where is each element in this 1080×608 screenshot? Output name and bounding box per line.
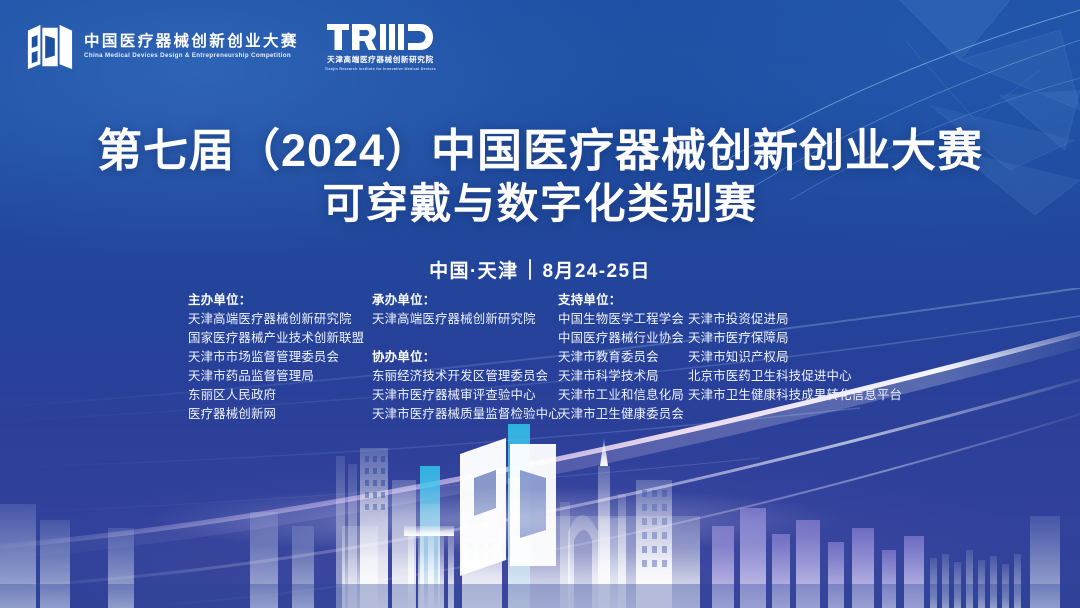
logo-cmdc-text: 中国医疗器械创新创业大赛 China Medical Devices Desig… [84,34,299,59]
organizer-item: 天津市科学技术局 [558,367,688,386]
organizer-item: 东丽区人民政府 [188,386,372,405]
organizer-item: 国家医疗器械产业技术创新联盟 [188,329,372,348]
page-title-line-2: 可穿戴与数字化类别赛 [0,177,1080,232]
organizer-group-title: 主办单位： [188,291,372,310]
organizer-item: 天津市药品监督管理局 [188,367,372,386]
organizer-column-3: 支持单位：中国生物医学工程学会中国医疗器械行业协会天津市教育委员会天津市科学技术… [558,291,688,424]
organizer-item: 天津高端医疗器械创新研究院 [188,310,372,329]
organizer-group: 主办单位：天津高端医疗器械创新研究院国家医疗器械产业技术创新联盟天津市市场监督管… [188,291,372,424]
organizer-item: 天津市医疗保障局 [688,329,898,348]
organizer-group-title: 支持单位： [558,291,688,310]
ground-glow [0,480,1080,560]
logo-triid-cn-name: 天津高端医疗器械创新研究院 [327,56,434,64]
page-title-line-1: 第七届（2024）中国医疗器械创新创业大赛 [0,124,1080,177]
organizer-columns: 主办单位：天津高端医疗器械创新研究院国家医疗器械产业技术创新联盟天津市市场监督管… [188,291,898,424]
event-location: 中国·天津 [429,256,518,283]
organizer-item: 天津市医疗器械审评查验中心 [372,386,558,405]
triid-wordmark-icon [327,22,433,52]
organizer-item: 中国医疗器械行业协会 [558,329,688,348]
logo-cmdc-cn-name: 中国医疗器械创新创业大赛 [84,34,299,50]
organizer-item: 中国生物医学工程学会 [558,310,688,329]
organizer-group: 支持单位：中国生物医学工程学会中国医疗器械行业协会天津市教育委员会天津市科学技术… [558,291,688,424]
organizer-item: 天津市教育委员会 [558,348,688,367]
organizer-item: 天津高端医疗器械创新研究院 [372,310,558,329]
organizer-item: 天津市卫生健康科技成果转化信息平台 [688,386,898,405]
city-skyline-silhouette [0,408,1080,608]
organizer-column-1: 主办单位：天津高端医疗器械创新研究院国家医疗器械产业技术创新联盟天津市市场监督管… [188,291,372,424]
organizer-group: 承办单位：天津高端医疗器械创新研究院 [372,291,558,329]
logo-cmdc: 中国医疗器械创新创业大赛 China Medical Devices Desig… [26,23,299,71]
organizer-column-4: 天津市投资促进局天津市医疗保障局天津市知识产权局北京市医药卫生科技促进中心天津市… [688,291,898,405]
organizer-group-title: 承办单位： [372,291,558,310]
poster-title-block: 第七届（2024）中国医疗器械创新创业大赛 可穿戴与数字化类别赛 [0,124,1080,232]
poster-subtitle: 中国·天津 8月24-25日 [0,256,1080,283]
organizer-item: 东丽经济技术开发区管理委员会 [372,367,558,386]
organizer-item: 天津市投资促进局 [688,310,898,329]
subtitle-divider [529,259,531,280]
organizer-item: 北京市医药卫生科技促进中心 [688,367,898,386]
organizer-item: 天津市工业和信息化局 [558,386,688,405]
organizer-item: 天津市市场监督管理委员会 [188,348,372,367]
organizer-group: 协办单位：东丽经济技术开发区管理委员会天津市医疗器械审评查验中心天津市医疗器械质… [372,348,558,424]
organizer-column-2: 承办单位：天津高端医疗器械创新研究院协办单位：东丽经济技术开发区管理委员会天津市… [372,291,558,424]
open-door-gate-icon [26,23,74,71]
organizer-group: 天津市投资促进局天津市医疗保障局天津市知识产权局北京市医药卫生科技促进中心天津市… [688,310,898,405]
organizer-group-title: 协办单位： [372,348,558,367]
organizer-item: 天津市知识产权局 [688,348,898,367]
event-poster: 中国医疗器械创新创业大赛 China Medical Devices Desig… [0,0,1080,608]
logo-triid: 天津高端医疗器械创新研究院 Tianjin Research Institute… [325,22,436,71]
organizer-item: 医疗器械创新网 [188,405,372,424]
header-logos: 中国医疗器械创新创业大赛 China Medical Devices Desig… [26,22,436,71]
organizer-item: 天津市卫生健康委员会 [558,405,688,424]
logo-triid-en-name: Tianjin Research Institute for Innovativ… [325,68,436,72]
organizer-item: 天津市医疗器械质量监督检验中心 [372,405,558,424]
event-date: 8月24-25日 [542,256,650,283]
logo-cmdc-en-name: China Medical Devices Design & Entrepren… [84,53,299,60]
